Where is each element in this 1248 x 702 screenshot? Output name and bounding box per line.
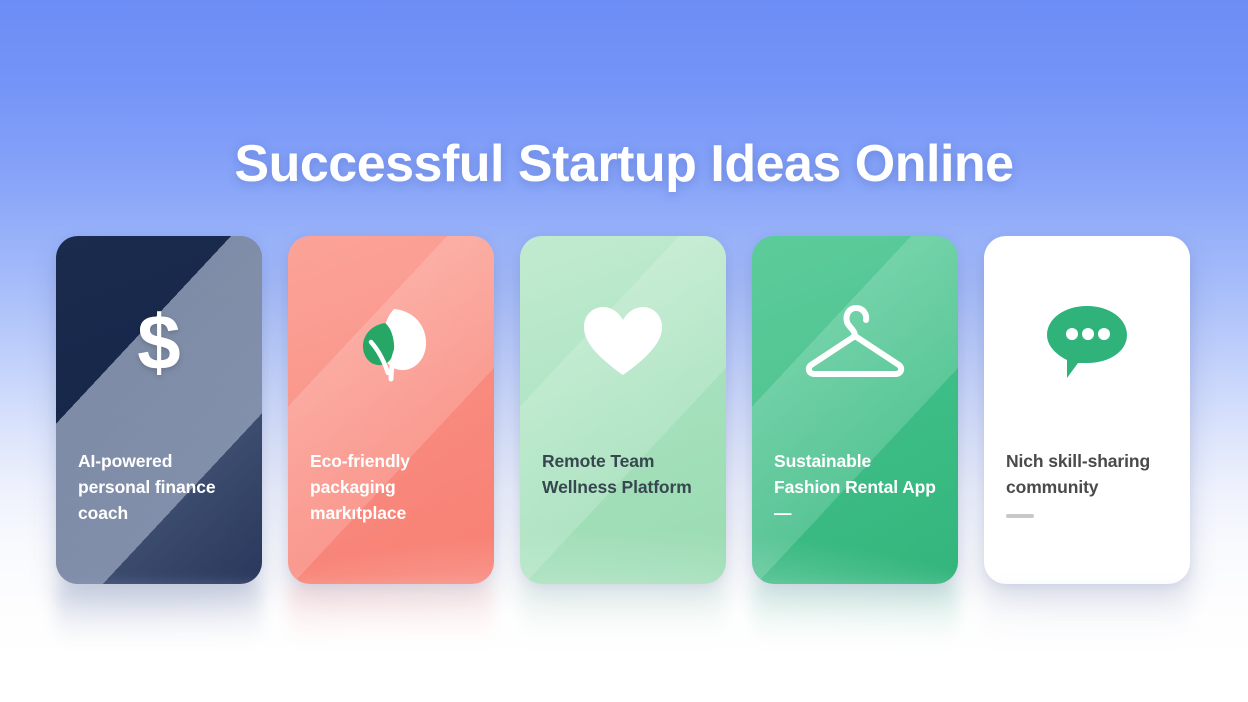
card-reflection [288, 584, 494, 646]
card-label: AI-powered personal finance coach [56, 448, 262, 526]
card-label: Eco-friendly packaging markıtplace [288, 448, 494, 526]
card-label: Remote Team Wellness Platform [520, 448, 726, 500]
card-eco-friendly-packaging-marketplace[interactable]: Eco-friendly packaging markıtplace [288, 236, 494, 584]
chat-bubble-icon [1045, 302, 1129, 382]
slide-canvas: Successful Startup Ideas Online $ AI-pow… [0, 0, 1248, 702]
card-remote-team-wellness-platform[interactable]: Remote Team Wellness Platform [520, 236, 726, 584]
card-label: Nich skill-sharing community [984, 448, 1190, 500]
card-label: Sustainable Fashion Rental App — [752, 448, 958, 526]
card-icon-slot [984, 236, 1190, 448]
startup-idea-card-list: $ AI-powered personal finance coach Eco-… [56, 236, 1192, 584]
card-divider-rule [1006, 514, 1034, 518]
card-icon-slot [520, 236, 726, 448]
dollar-sign-icon: $ [137, 303, 180, 381]
card-reflection [984, 584, 1190, 646]
card-icon-slot: $ [56, 236, 262, 448]
leaf-icon [347, 301, 435, 383]
card-reflection [520, 584, 726, 646]
card-niche-skill-sharing-community[interactable]: Nich skill-sharing community [984, 236, 1190, 584]
card-reflection [56, 584, 262, 646]
heart-icon [582, 305, 664, 379]
clothes-hanger-icon [803, 303, 907, 381]
card-reflection [752, 584, 958, 646]
card-icon-slot [288, 236, 494, 448]
page-title: Successful Startup Ideas Online [0, 134, 1248, 194]
card-icon-slot [752, 236, 958, 448]
card-sustainable-fashion-rental-app[interactable]: Sustainable Fashion Rental App — [752, 236, 958, 584]
card-ai-personal-finance-coach[interactable]: $ AI-powered personal finance coach [56, 236, 262, 584]
card-reflections [56, 584, 1192, 654]
